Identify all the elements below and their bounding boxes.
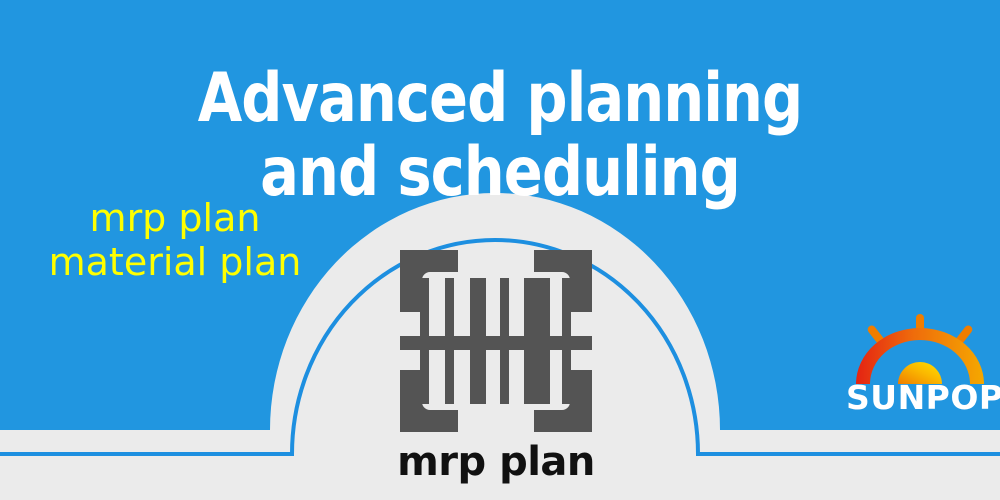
banner-canvas: Advanced planning and scheduling mrp pla…: [0, 0, 1000, 500]
subtitle-keywords: mrp plan material plan: [10, 196, 340, 284]
barcode-bar-2: [445, 278, 454, 404]
barcode-bar-6: [562, 278, 571, 404]
barcode-bar-4: [500, 278, 509, 404]
barcode-bar-5: [524, 278, 550, 404]
feature-caption: mrp plan: [380, 440, 612, 484]
barcode-bar-1: [420, 278, 429, 404]
barcode-bar-3: [470, 278, 486, 404]
page-title: Advanced planning and scheduling: [30, 62, 970, 210]
brand-wordmark: SUNPOP: [846, 380, 994, 416]
barcode-scan-icon: [400, 250, 592, 432]
